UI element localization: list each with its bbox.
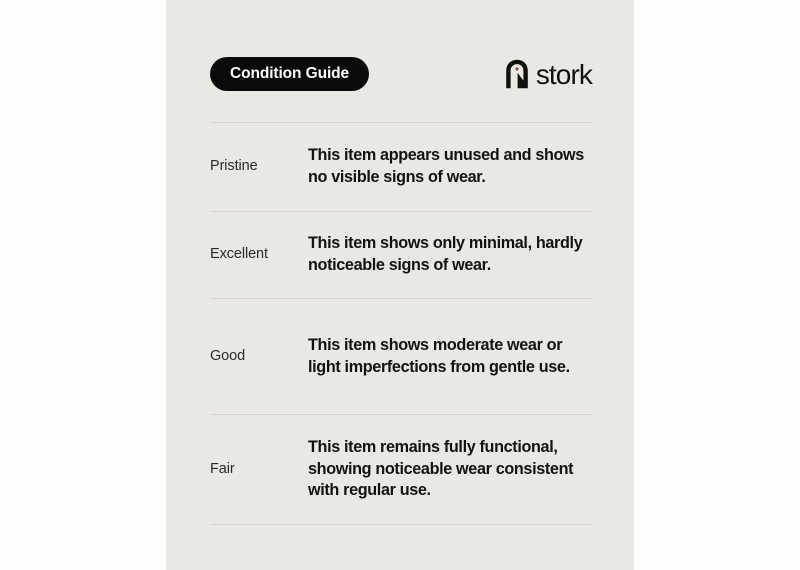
table-row: Fair This item remains fully functional,… [210, 415, 592, 524]
condition-description: This item remains fully functional, show… [308, 437, 592, 503]
table-row: Good This item shows moderate wear or li… [210, 299, 592, 414]
condition-guide-table: Pristine This item appears unused and sh… [210, 122, 592, 525]
brand-lockup: stork [505, 58, 592, 90]
table-row: Pristine This item appears unused and sh… [210, 123, 592, 211]
table-row: Excellent This item shows only minimal, … [210, 212, 592, 298]
condition-label: Excellent [210, 246, 308, 263]
table-divider-bottom [210, 524, 592, 525]
stork-arch-logo-icon [505, 59, 529, 89]
condition-label: Pristine [210, 158, 308, 175]
condition-guide-badge-label: Condition Guide [230, 66, 349, 82]
card-header: Condition Guide stork [210, 57, 592, 91]
condition-guide-badge[interactable]: Condition Guide [210, 57, 369, 91]
page-root: Condition Guide stork Pristine This item… [0, 0, 800, 570]
condition-label: Good [210, 348, 308, 365]
condition-description: This item shows only minimal, hardly not… [308, 233, 592, 277]
condition-description: This item appears unused and shows no vi… [308, 145, 592, 189]
brand-name: stork [536, 61, 592, 89]
condition-guide-card: Condition Guide stork Pristine This item… [166, 0, 634, 570]
condition-label: Fair [210, 461, 308, 478]
condition-description: This item shows moderate wear or light i… [308, 335, 592, 379]
